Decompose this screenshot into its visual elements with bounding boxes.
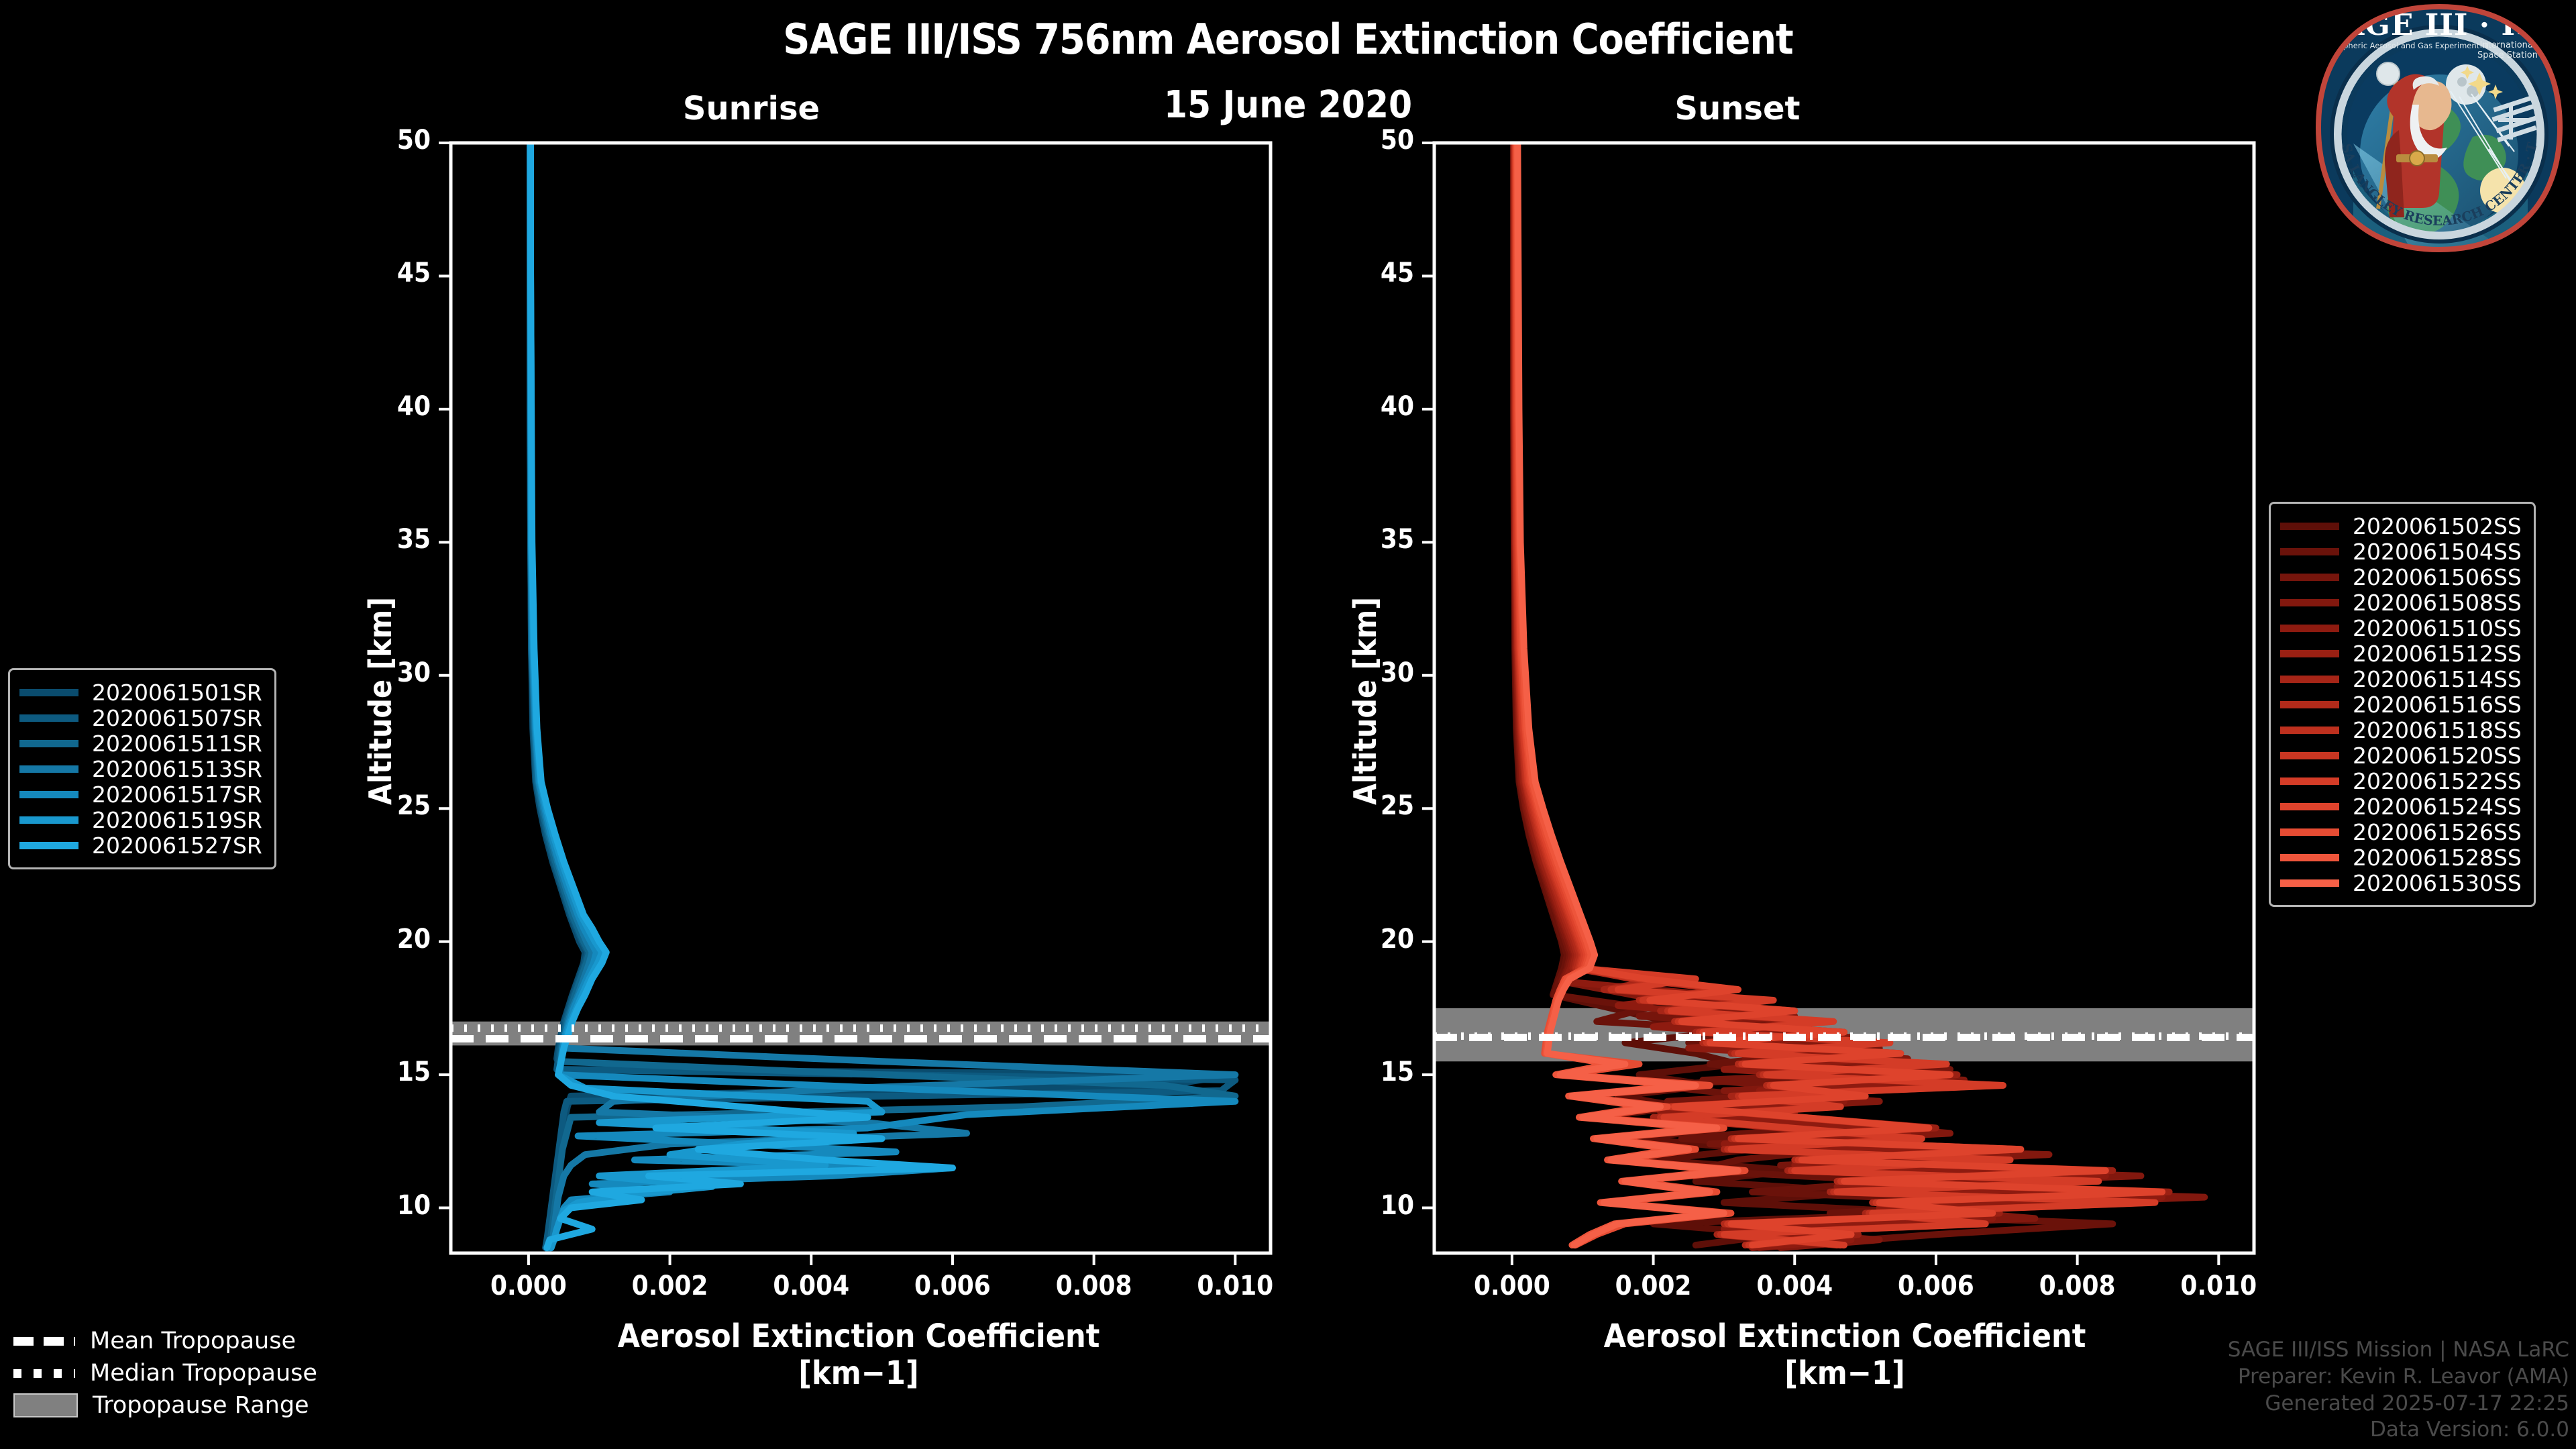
legend-item-label: 2020061511SR	[92, 731, 262, 757]
legend-color-swatch	[2280, 854, 2339, 861]
x-tick-label: 0.000	[1452, 1271, 1572, 1301]
sunset-legend[interactable]: 2020061502SS2020061504SS2020061506SS2020…	[2269, 502, 2536, 907]
sunrise-xaxis-label-line1: Aerosol Extinction Coefficient	[577, 1318, 1140, 1355]
legend-item-label: 2020061506SS	[2353, 564, 2522, 590]
legend-item[interactable]: 2020061518SS	[2280, 717, 2522, 743]
y-tick-label: 35	[1313, 524, 1414, 555]
credits-line-1: SAGE III/ISS Mission | NASA LaRC	[2228, 1337, 2569, 1364]
legend-color-swatch	[2280, 727, 2339, 734]
legend-color-swatch	[2280, 625, 2339, 632]
y-tick-label: 10	[330, 1190, 431, 1221]
tropopause-legend-swatch	[13, 1369, 75, 1378]
legend-item[interactable]: 2020061514SS	[2280, 666, 2522, 692]
legend-color-swatch	[2280, 701, 2339, 708]
credits-line-2: Preparer: Kevin R. Leavor (AMA)	[2228, 1364, 2569, 1391]
x-tick-label: 0.008	[1034, 1271, 1155, 1301]
legend-item[interactable]: 2020061501SR	[19, 680, 262, 705]
legend-color-swatch	[19, 689, 78, 696]
legend-color-swatch	[19, 816, 78, 824]
legend-item-label: 2020061512SS	[2353, 641, 2522, 667]
tropopause-legend: Mean TropopauseMedian TropopauseTropopau…	[13, 1325, 317, 1421]
legend-color-swatch	[19, 842, 78, 849]
legend-item[interactable]: 2020061513SR	[19, 756, 262, 782]
legend-color-swatch	[19, 791, 78, 798]
sunrise-yaxis-label: Altitude [km]	[362, 597, 398, 805]
legend-item[interactable]: 2020061510SS	[2280, 615, 2522, 641]
tropopause-legend-item: Mean Tropopause	[13, 1325, 317, 1357]
sage-iii-iss-mission-patch-logo: SAGE III · ISS Stratospheric Aerosol and…	[2313, 3, 2565, 255]
y-tick-label: 45	[330, 258, 431, 288]
legend-item-label: 2020061502SS	[2353, 513, 2522, 539]
legend-item[interactable]: 2020061516SS	[2280, 692, 2522, 717]
tropopause-legend-swatch	[13, 1337, 75, 1346]
legend-item[interactable]: 2020061519SR	[19, 807, 262, 833]
legend-item[interactable]: 2020061506SS	[2280, 564, 2522, 590]
legend-item[interactable]: 2020061526SS	[2280, 819, 2522, 845]
legend-item[interactable]: 2020061507SR	[19, 705, 262, 731]
y-tick-label: 50	[1313, 125, 1414, 156]
legend-item-label: 2020061527SR	[92, 833, 262, 859]
tropopause-legend-label: Median Tropopause	[90, 1360, 317, 1387]
legend-item-label: 2020061520SS	[2353, 743, 2522, 769]
y-tick-label: 15	[330, 1057, 431, 1087]
legend-color-swatch	[19, 714, 78, 722]
legend-color-swatch	[2280, 523, 2339, 530]
legend-color-swatch	[2280, 650, 2339, 657]
legend-item-label: 2020061504SS	[2353, 539, 2522, 565]
legend-color-swatch	[2280, 548, 2339, 555]
legend-item[interactable]: 2020061530SS	[2280, 870, 2522, 896]
legend-item-label: 2020061528SS	[2353, 845, 2522, 871]
y-tick-label: 25	[1313, 790, 1414, 821]
sunrise-xaxis-label-line2: [km−1]	[577, 1355, 1140, 1392]
legend-item[interactable]: 2020061512SS	[2280, 641, 2522, 666]
legend-item[interactable]: 2020061528SS	[2280, 845, 2522, 870]
legend-item-label: 2020061508SS	[2353, 590, 2522, 616]
legend-item[interactable]: 2020061520SS	[2280, 743, 2522, 768]
legend-item[interactable]: 2020061522SS	[2280, 768, 2522, 794]
y-tick-label: 25	[330, 790, 431, 821]
y-tick-label: 45	[1313, 258, 1414, 288]
credits-line-3: Generated 2025-07-17 22:25	[2228, 1391, 2569, 1417]
tropopause-legend-label: Tropopause Range	[93, 1392, 309, 1419]
legend-item-label: 2020061526SS	[2353, 819, 2522, 845]
tropopause-legend-item: Tropopause Range	[13, 1389, 317, 1421]
sunset-xaxis-label: Aerosol Extinction Coefficient [km−1]	[1563, 1318, 2127, 1392]
legend-color-swatch	[2280, 803, 2339, 810]
legend-item[interactable]: 2020061527SR	[19, 833, 262, 858]
legend-color-swatch	[2280, 879, 2339, 887]
legend-item-label: 2020061522SS	[2353, 768, 2522, 794]
x-tick-label: 0.002	[610, 1271, 731, 1301]
legend-color-swatch	[2280, 676, 2339, 683]
x-tick-label: 0.008	[2017, 1271, 2138, 1301]
x-tick-label: 0.006	[892, 1271, 1013, 1301]
y-tick-label: 40	[330, 391, 431, 422]
legend-item-label: 2020061518SS	[2353, 717, 2522, 743]
y-tick-label: 15	[1313, 1057, 1414, 1087]
sunset-yaxis-label: Altitude [km]	[1347, 597, 1383, 805]
y-tick-label: 10	[1313, 1190, 1414, 1221]
y-tick-label: 35	[330, 524, 431, 555]
y-tick-label: 20	[1313, 924, 1414, 955]
legend-item-label: 2020061514SS	[2353, 666, 2522, 692]
y-tick-label: 30	[330, 657, 431, 688]
x-tick-label: 0.002	[1593, 1271, 1714, 1301]
legend-item-label: 2020061519SR	[92, 807, 262, 833]
sunset-plot	[1261, 0, 2402, 1449]
credits-block: SAGE III/ISS Mission | NASA LaRC Prepare…	[2228, 1337, 2569, 1444]
sunrise-xaxis-label: Aerosol Extinction Coefficient [km−1]	[577, 1318, 1140, 1392]
tropopause-legend-swatch	[13, 1393, 78, 1417]
legend-item-label: 2020061516SS	[2353, 692, 2522, 718]
legend-item-label: 2020061517SR	[92, 782, 262, 808]
y-tick-label: 20	[330, 924, 431, 955]
x-tick-label: 0.000	[468, 1271, 589, 1301]
tropopause-legend-label: Mean Tropopause	[90, 1328, 296, 1354]
legend-color-swatch	[2280, 828, 2339, 836]
legend-item-label: 2020061524SS	[2353, 794, 2522, 820]
legend-item[interactable]: 2020061504SS	[2280, 539, 2522, 564]
legend-item[interactable]: 2020061511SR	[19, 731, 262, 756]
x-tick-label: 0.006	[1876, 1271, 1996, 1301]
legend-item-label: 2020061530SS	[2353, 870, 2522, 896]
svg-text:International: International	[2480, 40, 2536, 50]
legend-item-label: 2020061501SR	[92, 680, 262, 706]
legend-color-swatch	[2280, 574, 2339, 581]
legend-item-label: 2020061513SR	[92, 756, 262, 782]
legend-color-swatch	[19, 740, 78, 747]
y-tick-label: 40	[1313, 391, 1414, 422]
legend-color-swatch	[2280, 599, 2339, 606]
x-tick-label: 0.004	[751, 1271, 871, 1301]
legend-color-swatch	[19, 765, 78, 773]
legend-color-swatch	[2280, 752, 2339, 759]
legend-color-swatch	[2280, 777, 2339, 785]
y-tick-label: 30	[1313, 657, 1414, 688]
credits-line-4: Data Version: 6.0.0	[2228, 1417, 2569, 1444]
sunset-xaxis-label-line1: Aerosol Extinction Coefficient	[1563, 1318, 2127, 1355]
legend-item-label: 2020061507SR	[92, 705, 262, 731]
y-tick-label: 50	[330, 125, 431, 156]
x-tick-label: 0.010	[1175, 1271, 1295, 1301]
sunrise-legend[interactable]: 2020061501SR2020061507SR2020061511SR2020…	[8, 668, 276, 869]
legend-item[interactable]: 2020061524SS	[2280, 794, 2522, 819]
legend-item-label: 2020061510SS	[2353, 615, 2522, 641]
sunset-xaxis-label-line2: [km−1]	[1563, 1355, 2127, 1392]
legend-item[interactable]: 2020061508SS	[2280, 590, 2522, 615]
x-tick-label: 0.010	[2158, 1271, 2279, 1301]
tropopause-legend-item: Median Tropopause	[13, 1357, 317, 1389]
legend-item[interactable]: 2020061517SR	[19, 782, 262, 807]
x-tick-label: 0.004	[1734, 1271, 1855, 1301]
svg-text:Space Station: Space Station	[2477, 50, 2538, 60]
legend-item[interactable]: 2020061502SS	[2280, 513, 2522, 539]
